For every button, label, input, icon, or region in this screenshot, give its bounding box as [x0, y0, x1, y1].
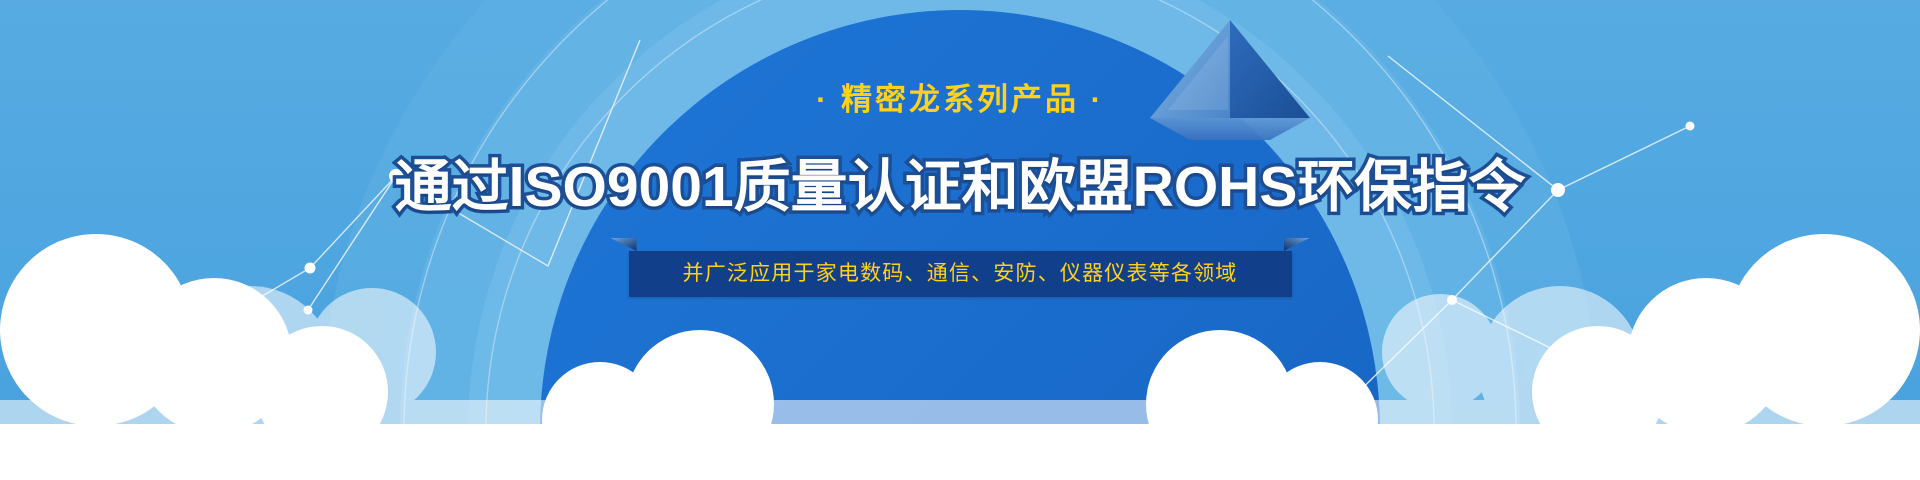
clouds-front — [0, 234, 1920, 480]
promo-banner: · 精密龙系列产品 · 通过ISO9001质量认证和欧盟ROHS环保指令 并广泛… — [0, 0, 1920, 480]
cloud-decoration — [0, 0, 1920, 480]
